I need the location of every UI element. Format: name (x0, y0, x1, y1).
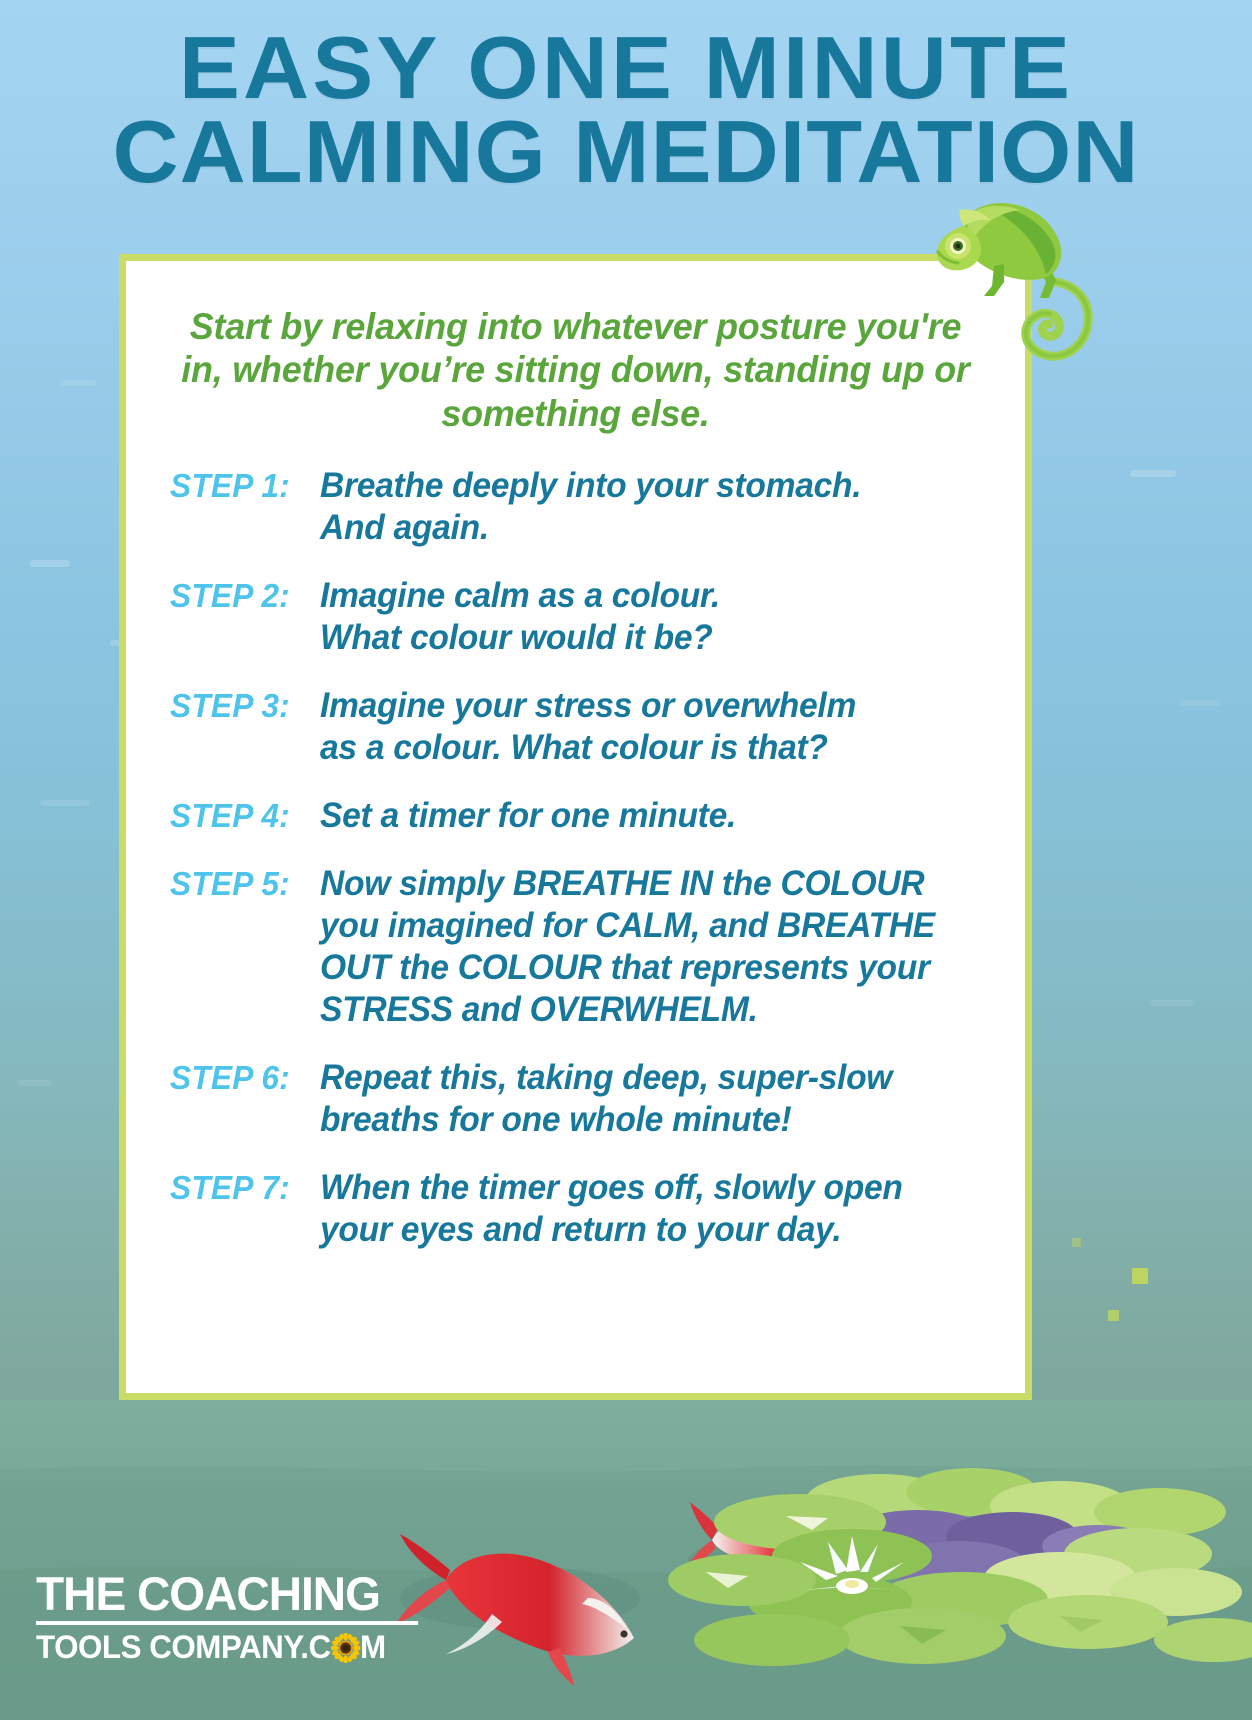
decorative-square (1108, 1310, 1119, 1321)
decorative-square (1132, 1268, 1148, 1284)
step-label: STEP 5: (170, 863, 314, 905)
step-line: Repeat this, taking deep, super-slow (320, 1057, 968, 1099)
sunflower-icon (331, 1633, 360, 1663)
step-label: STEP 1: (170, 465, 314, 507)
step-label: STEP 3: (170, 685, 314, 727)
step-line: And again. (320, 507, 968, 549)
step-text: Now simply BREATHE IN the COLOUR you ima… (320, 863, 968, 1031)
step-text: Breathe deeply into your stomach. And ag… (320, 465, 968, 549)
title-line-2: CALMING MEDITATION (0, 110, 1252, 194)
content-card: Start by relaxing into whatever posture … (119, 254, 1032, 1400)
step-line: OUT the COLOUR that represents your (320, 947, 968, 989)
water-streak (1180, 700, 1220, 706)
step-line: Set a timer for one minute. (320, 795, 968, 837)
decorative-square (1172, 1420, 1194, 1442)
list-item: STEP 3: Imagine your stress or overwhelm… (126, 685, 1025, 769)
list-item: STEP 6: Repeat this, taking deep, super-… (126, 1057, 1025, 1141)
logo-line-2-after: M (360, 1629, 386, 1665)
logo-line-1: THE COACHING (36, 1570, 418, 1625)
steps-list: STEP 1: Breathe deeply into your stomach… (126, 435, 1025, 1251)
step-line: Imagine calm as a colour. (320, 575, 968, 617)
water-streak (40, 800, 90, 806)
step-line: breaths for one whole minute! (320, 1099, 968, 1141)
water-streak (60, 380, 96, 386)
step-line: Breathe deeply into your stomach. (320, 465, 968, 507)
koi-fish-icon (684, 1502, 816, 1578)
step-label: STEP 7: (170, 1167, 314, 1209)
step-line: you imagined for CALM, and BREATHE (320, 905, 968, 947)
step-line: STRESS and OVERWHELM. (320, 989, 968, 1031)
step-text: Imagine calm as a colour. What colour wo… (320, 575, 968, 659)
list-item: STEP 2: Imagine calm as a colour. What c… (126, 575, 1025, 659)
water-streak (1130, 470, 1176, 477)
step-label: STEP 4: (170, 795, 314, 837)
step-line: your eyes and return to your day. (320, 1209, 968, 1251)
step-line: What colour would it be? (320, 617, 968, 659)
water-streak (1150, 1000, 1194, 1006)
water-streak (30, 560, 70, 567)
list-item: STEP 4: Set a timer for one minute. (126, 795, 1025, 837)
step-line: When the timer goes off, slowly open (320, 1167, 968, 1209)
water-lily-icon (800, 1536, 904, 1594)
step-text: Set a timer for one minute. (320, 795, 968, 837)
lily-pad-icon (668, 1468, 1252, 1666)
logo-line-2: TOOLS COMPANY.C (36, 1625, 418, 1663)
list-item: STEP 1: Breathe deeply into your stomach… (126, 465, 1025, 549)
decorative-square (1072, 1238, 1081, 1247)
page-title: EASY ONE MINUTE CALMING MEDITATION (0, 26, 1252, 195)
step-text: Imagine your stress or overwhelm as a co… (320, 685, 968, 769)
step-text: Repeat this, taking deep, super-slow bre… (320, 1057, 968, 1141)
list-item: STEP 7: When the timer goes off, slowly … (126, 1167, 1025, 1251)
step-line: Now simply BREATHE IN the COLOUR (320, 863, 968, 905)
decorative-square (1028, 1468, 1040, 1482)
koi-fish-icon (396, 1534, 634, 1686)
step-label: STEP 2: (170, 575, 314, 617)
brand-logo[interactable]: THE COACHING TOOLS COMPANY.C (36, 1570, 426, 1663)
koi-shadow (688, 1540, 832, 1580)
step-label: STEP 6: (170, 1057, 314, 1099)
step-text: When the timer goes off, slowly open you… (320, 1167, 968, 1251)
decorative-square (1128, 1498, 1142, 1512)
decorative-square (1028, 1428, 1040, 1442)
koi-shadow (400, 1566, 640, 1630)
intro-text: Start by relaxing into whatever posture … (139, 261, 1011, 435)
water-streak (18, 1080, 52, 1086)
list-item: STEP 5: Now simply BREATHE IN the COLOUR… (126, 863, 1025, 1031)
step-line: as a colour. What colour is that? (320, 727, 968, 769)
step-line: Imagine your stress or overwhelm (320, 685, 968, 727)
title-line-1: EASY ONE MINUTE (0, 26, 1252, 110)
poster-canvas: EASY ONE MINUTE CALMING MEDITATION Start… (0, 0, 1252, 1720)
logo-line-2-before: TOOLS COMPANY.C (36, 1629, 331, 1665)
